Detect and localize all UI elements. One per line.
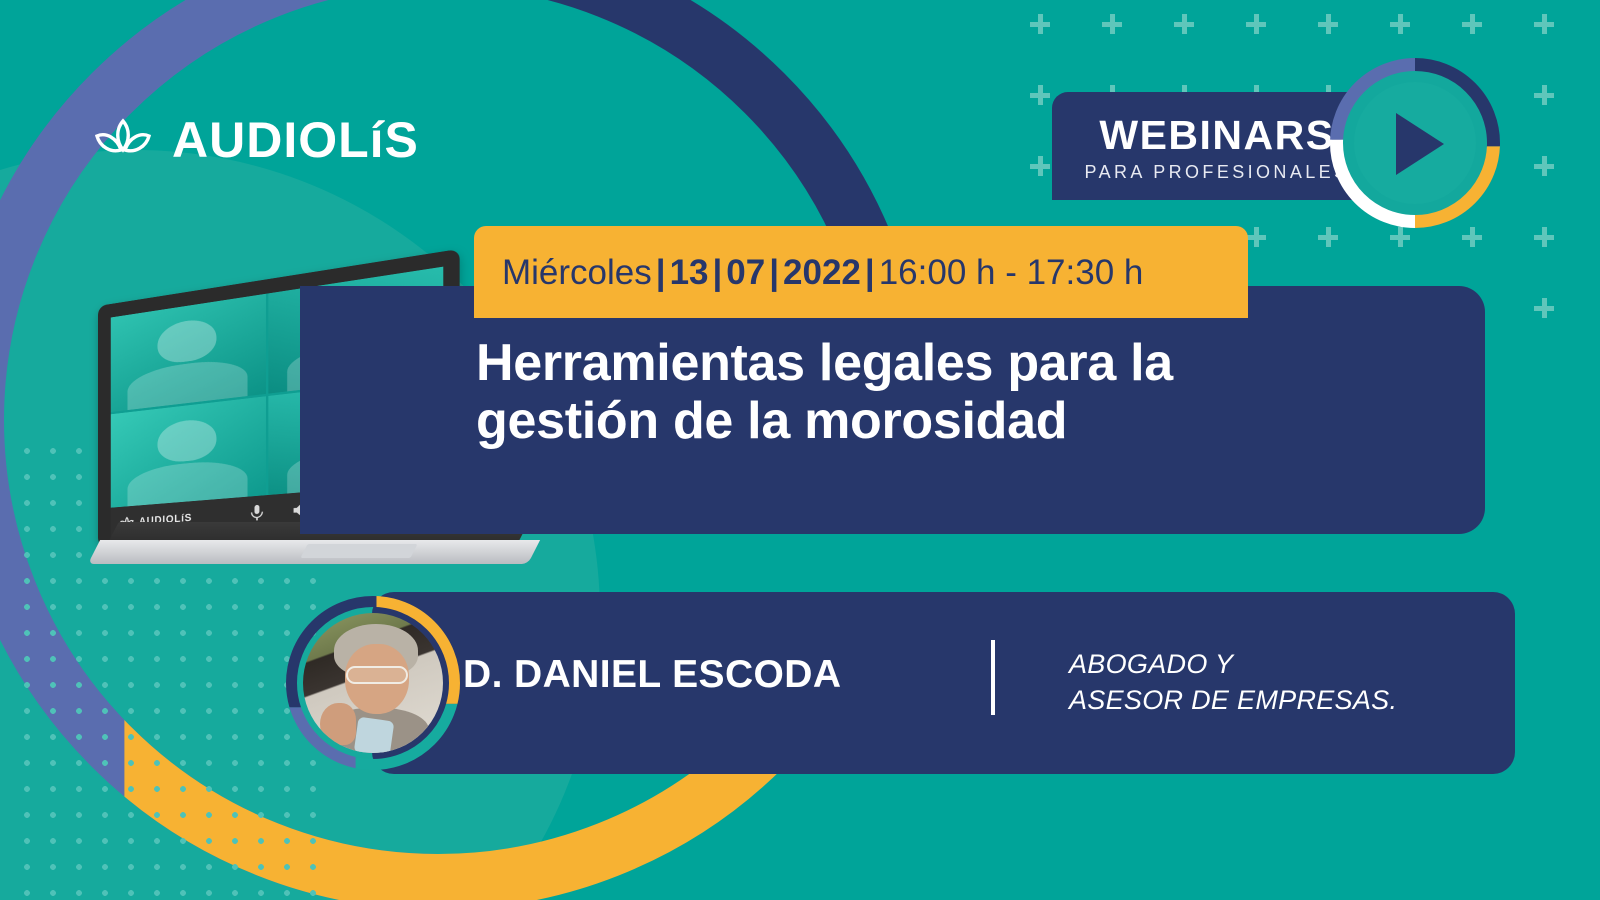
plus-mark [1534,14,1554,34]
participant-head [157,317,216,366]
plus-mark [1030,156,1050,176]
participant-tile [111,396,266,508]
webinars-title: WEBINARS [1099,115,1334,156]
date-day: 13 [670,253,709,292]
plus-mark [1246,227,1266,247]
plus-mark [1174,14,1194,34]
plus-mark [1534,85,1554,105]
webinars-subtitle: PARA PROFESIONALES [1085,163,1350,181]
photo-glasses [346,666,408,684]
plus-mark [1534,227,1554,247]
webinar-title: Herramientas legales para la gestión de … [476,334,1296,450]
plus-mark [1462,14,1482,34]
microphone-icon[interactable] [250,504,263,522]
date-year: 2022 [783,253,861,292]
plus-mark [1390,14,1410,34]
plus-mark [1534,298,1554,318]
title-card: Herramientas legales para la gestión de … [300,286,1485,534]
title-line-1: Herramientas legales para la [476,334,1173,392]
date-text: Miércoles|13|07|2022|16:00 h - 17:30 h [502,255,1143,290]
laptop-trackpad [300,544,417,558]
speaker-name: D. DANIEL ESCODA [463,655,841,694]
speaker-photo [303,613,443,753]
date-separator: | [652,253,670,292]
plus-mark [1246,14,1266,34]
brand-name: AUDIOLíS [172,115,419,165]
date-month: 07 [726,253,765,292]
participant-head [157,417,216,464]
date-day-name: Miércoles [502,253,652,292]
webinar-banner: AUDIOLíS WEBINARS PARA PROFESIONALES [0,0,1600,900]
speaker-divider [991,640,995,715]
play-button[interactable] [1330,58,1500,228]
date-banner: Miércoles|13|07|2022|16:00 h - 17:30 h [474,226,1248,318]
plus-mark [1030,85,1050,105]
speaker-avatar [286,596,460,770]
plus-mark [1534,156,1554,176]
plus-mark [1030,14,1050,34]
photo-hand [320,703,356,745]
speaker-role-line-2: ASESOR DE EMPRESAS. [1069,685,1397,715]
date-separator: | [709,253,727,292]
participant-tile [111,294,266,412]
date-time-range: 16:00 h - 17:30 h [879,253,1144,292]
date-separator: | [861,253,879,292]
speaker-role-line-1: ABOGADO Y [1069,649,1233,679]
date-separator: | [765,253,783,292]
speaker-role: ABOGADO Y ASESOR DE EMPRESAS. [1069,646,1397,719]
plus-mark [1318,14,1338,34]
title-line-2: gestión de la morosidad [476,392,1067,450]
audiolis-logo: AUDIOLíS [92,115,419,165]
plus-mark [1390,227,1410,247]
play-triangle-icon [1396,113,1444,175]
lotus-leaf-icon [92,117,154,164]
plus-mark [1102,14,1122,34]
plus-mark [1462,227,1482,247]
plus-mark [1318,227,1338,247]
photo-collar [354,717,395,753]
